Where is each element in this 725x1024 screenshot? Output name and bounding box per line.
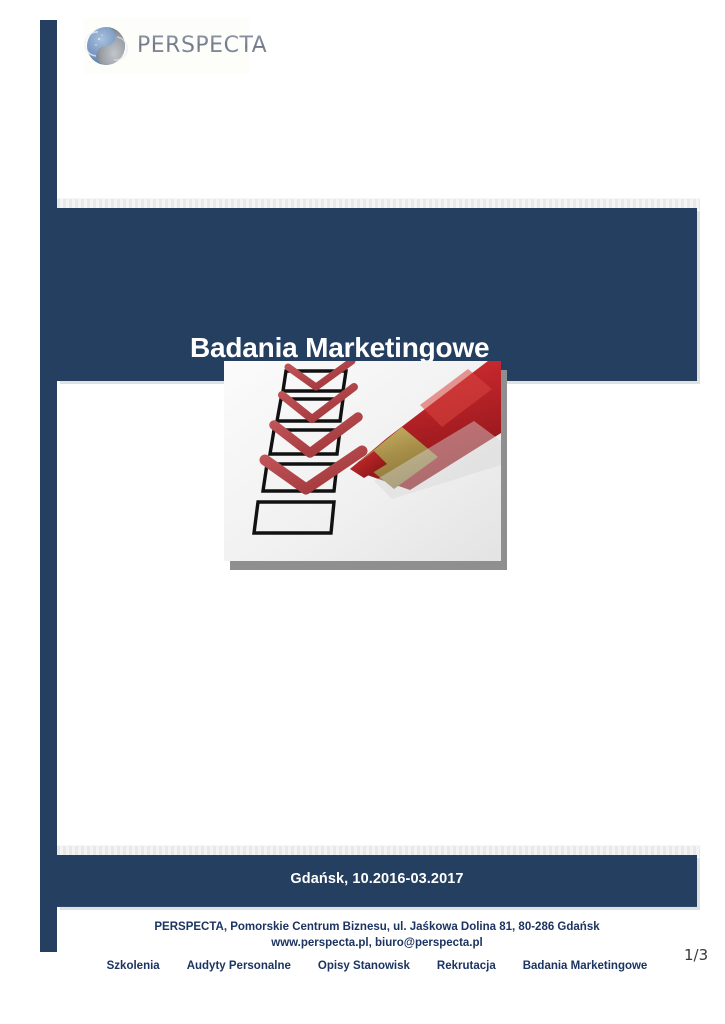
yin-yang-sphere-icon [84,24,128,68]
footer-service-opisy-stanowisk: Opisy Stanowisk [318,960,410,972]
footer-contact: PERSPECTA, Pomorskie Centrum Biznesu, ul… [57,919,697,952]
footer-service-rekrutacja: Rekrutacja [437,960,496,972]
footer-address-line: PERSPECTA, Pomorskie Centrum Biznesu, ul… [57,919,697,935]
date-banner: Gdańsk, 10.2016-03.2017 [57,855,697,907]
footer-service-szkolenia: Szkolenia [107,960,160,972]
footer-service-audyty-personalne: Audyty Personalne [187,960,291,972]
title-banner: Badania Marketingowe Projekt Dofinansowa… [57,208,697,381]
company-logo: PERSPECTA [84,18,249,74]
footer-website-email-line: www.perspecta.pl, biuro@perspecta.pl [57,935,697,951]
footer-service-badania-marketingowe: Badania Marketingowe [523,960,648,972]
document-page: PERSPECTA Badania Marketingowe Projekt D… [0,0,725,1024]
checklist-with-red-pencil-image [224,361,501,561]
footer-services-list: Szkolenia Audyty Personalne Opisy Stanow… [57,960,697,972]
page-number: 1/3 [684,946,708,964]
date-range-text: Gdańsk, 10.2016-03.2017 [57,871,697,887]
left-accent-bar [40,20,57,952]
logo-wordmark: PERSPECTA [137,35,267,57]
